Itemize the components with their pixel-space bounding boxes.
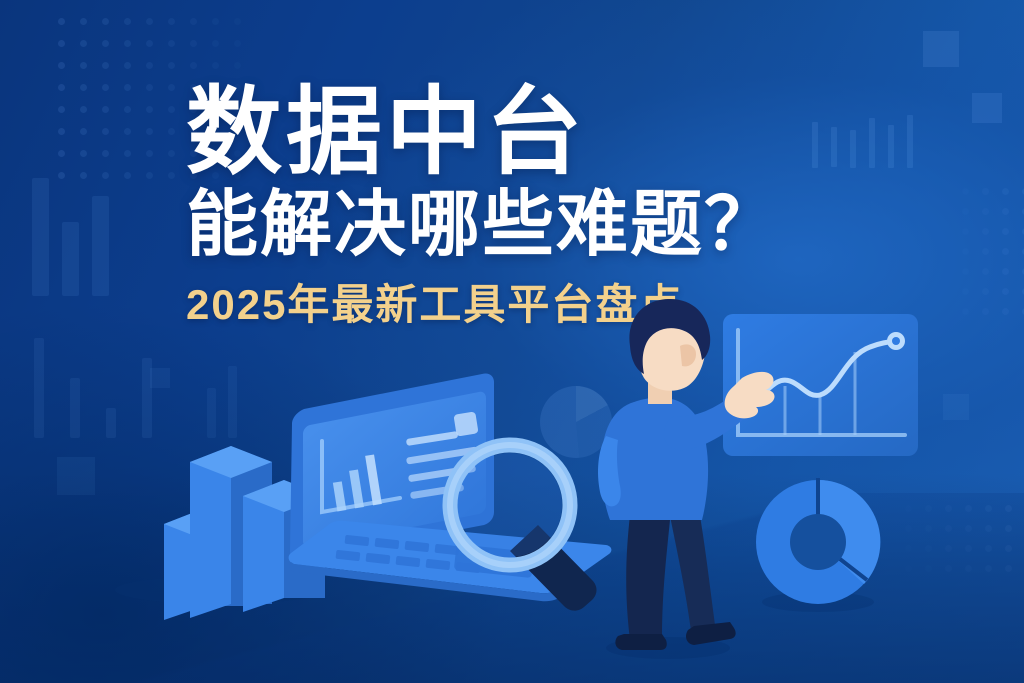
- main-illustration: [0, 0, 1024, 683]
- poster-canvas: 数据中台 能解决哪些难题？ 2025年最新工具平台盘点: [0, 0, 1024, 683]
- donut-chart: [756, 478, 880, 612]
